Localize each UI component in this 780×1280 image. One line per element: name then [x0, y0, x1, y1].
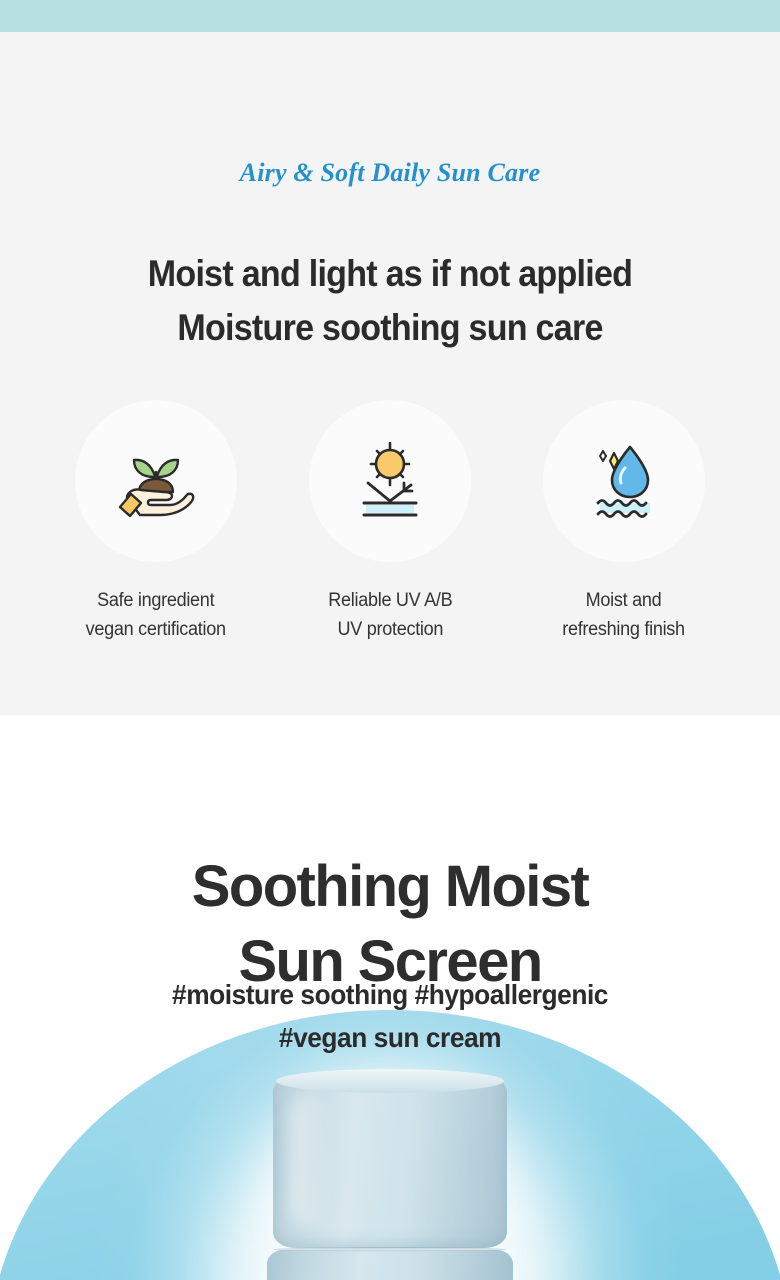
feature-caption-line-2: vegan certification [86, 615, 226, 644]
feature-caption: Reliable UV A/B UV protection [328, 586, 452, 644]
bottle-cap [273, 1076, 507, 1248]
feature-item-moist-finish: Moist and refreshing finish [518, 400, 730, 644]
product-hero-section: Soothing Moist Sun Screen #moisture soot… [0, 715, 780, 1280]
feature-caption: Safe ingredient vegan certification [86, 586, 226, 644]
feature-icon-circle [75, 400, 237, 562]
features-section: Airy & Soft Daily Sun Care Moist and lig… [0, 32, 780, 715]
bottle-cap-highlight [289, 1092, 333, 1226]
feature-caption: Moist and refreshing finish [563, 586, 686, 644]
feature-caption-line-2: refreshing finish [563, 615, 686, 644]
page-title-line-1: Moist and light as if not applied [148, 253, 632, 294]
page-title: Moist and light as if not applied Moistu… [31, 247, 749, 355]
sun-uv-shield-icon [344, 435, 436, 527]
feature-icon-circle [543, 400, 705, 562]
feature-caption-line-1: Reliable UV A/B [328, 590, 452, 611]
bottle-body [267, 1250, 513, 1280]
bottle-seam-line [273, 1247, 507, 1252]
feature-caption-line-1: Moist and [586, 590, 662, 611]
feature-icon-circle [309, 400, 471, 562]
product-bottle-image [267, 1076, 513, 1280]
eyebrow-tagline: Airy & Soft Daily Sun Care [0, 158, 780, 188]
product-hashtags-line-1: #moisture soothing #hypoallergenic [172, 979, 608, 1010]
hand-sprout-icon [110, 435, 202, 527]
feature-caption-line-1: Safe ingredient [97, 590, 214, 611]
feature-caption-line-2: UV protection [328, 615, 452, 644]
product-name-line-1: Soothing Moist [192, 854, 588, 919]
product-hashtags-line-2: #vegan sun cream [23, 1016, 756, 1059]
page-title-line-2: Moisture soothing sun care [31, 301, 749, 355]
product-detail-page: Airy & Soft Daily Sun Care Moist and lig… [0, 0, 780, 1280]
top-accent-band [0, 0, 780, 32]
water-droplet-sparkle-icon [578, 435, 670, 527]
feature-item-safe-ingredient: Safe ingredient vegan certification [50, 400, 262, 644]
feature-item-uv-protection: Reliable UV A/B UV protection [284, 400, 496, 644]
product-hashtags: #moisture soothing #hypoallergenic #vega… [23, 973, 756, 1059]
bottle-cap-top [276, 1069, 504, 1093]
feature-list: Safe ingredient vegan certification [50, 400, 730, 644]
